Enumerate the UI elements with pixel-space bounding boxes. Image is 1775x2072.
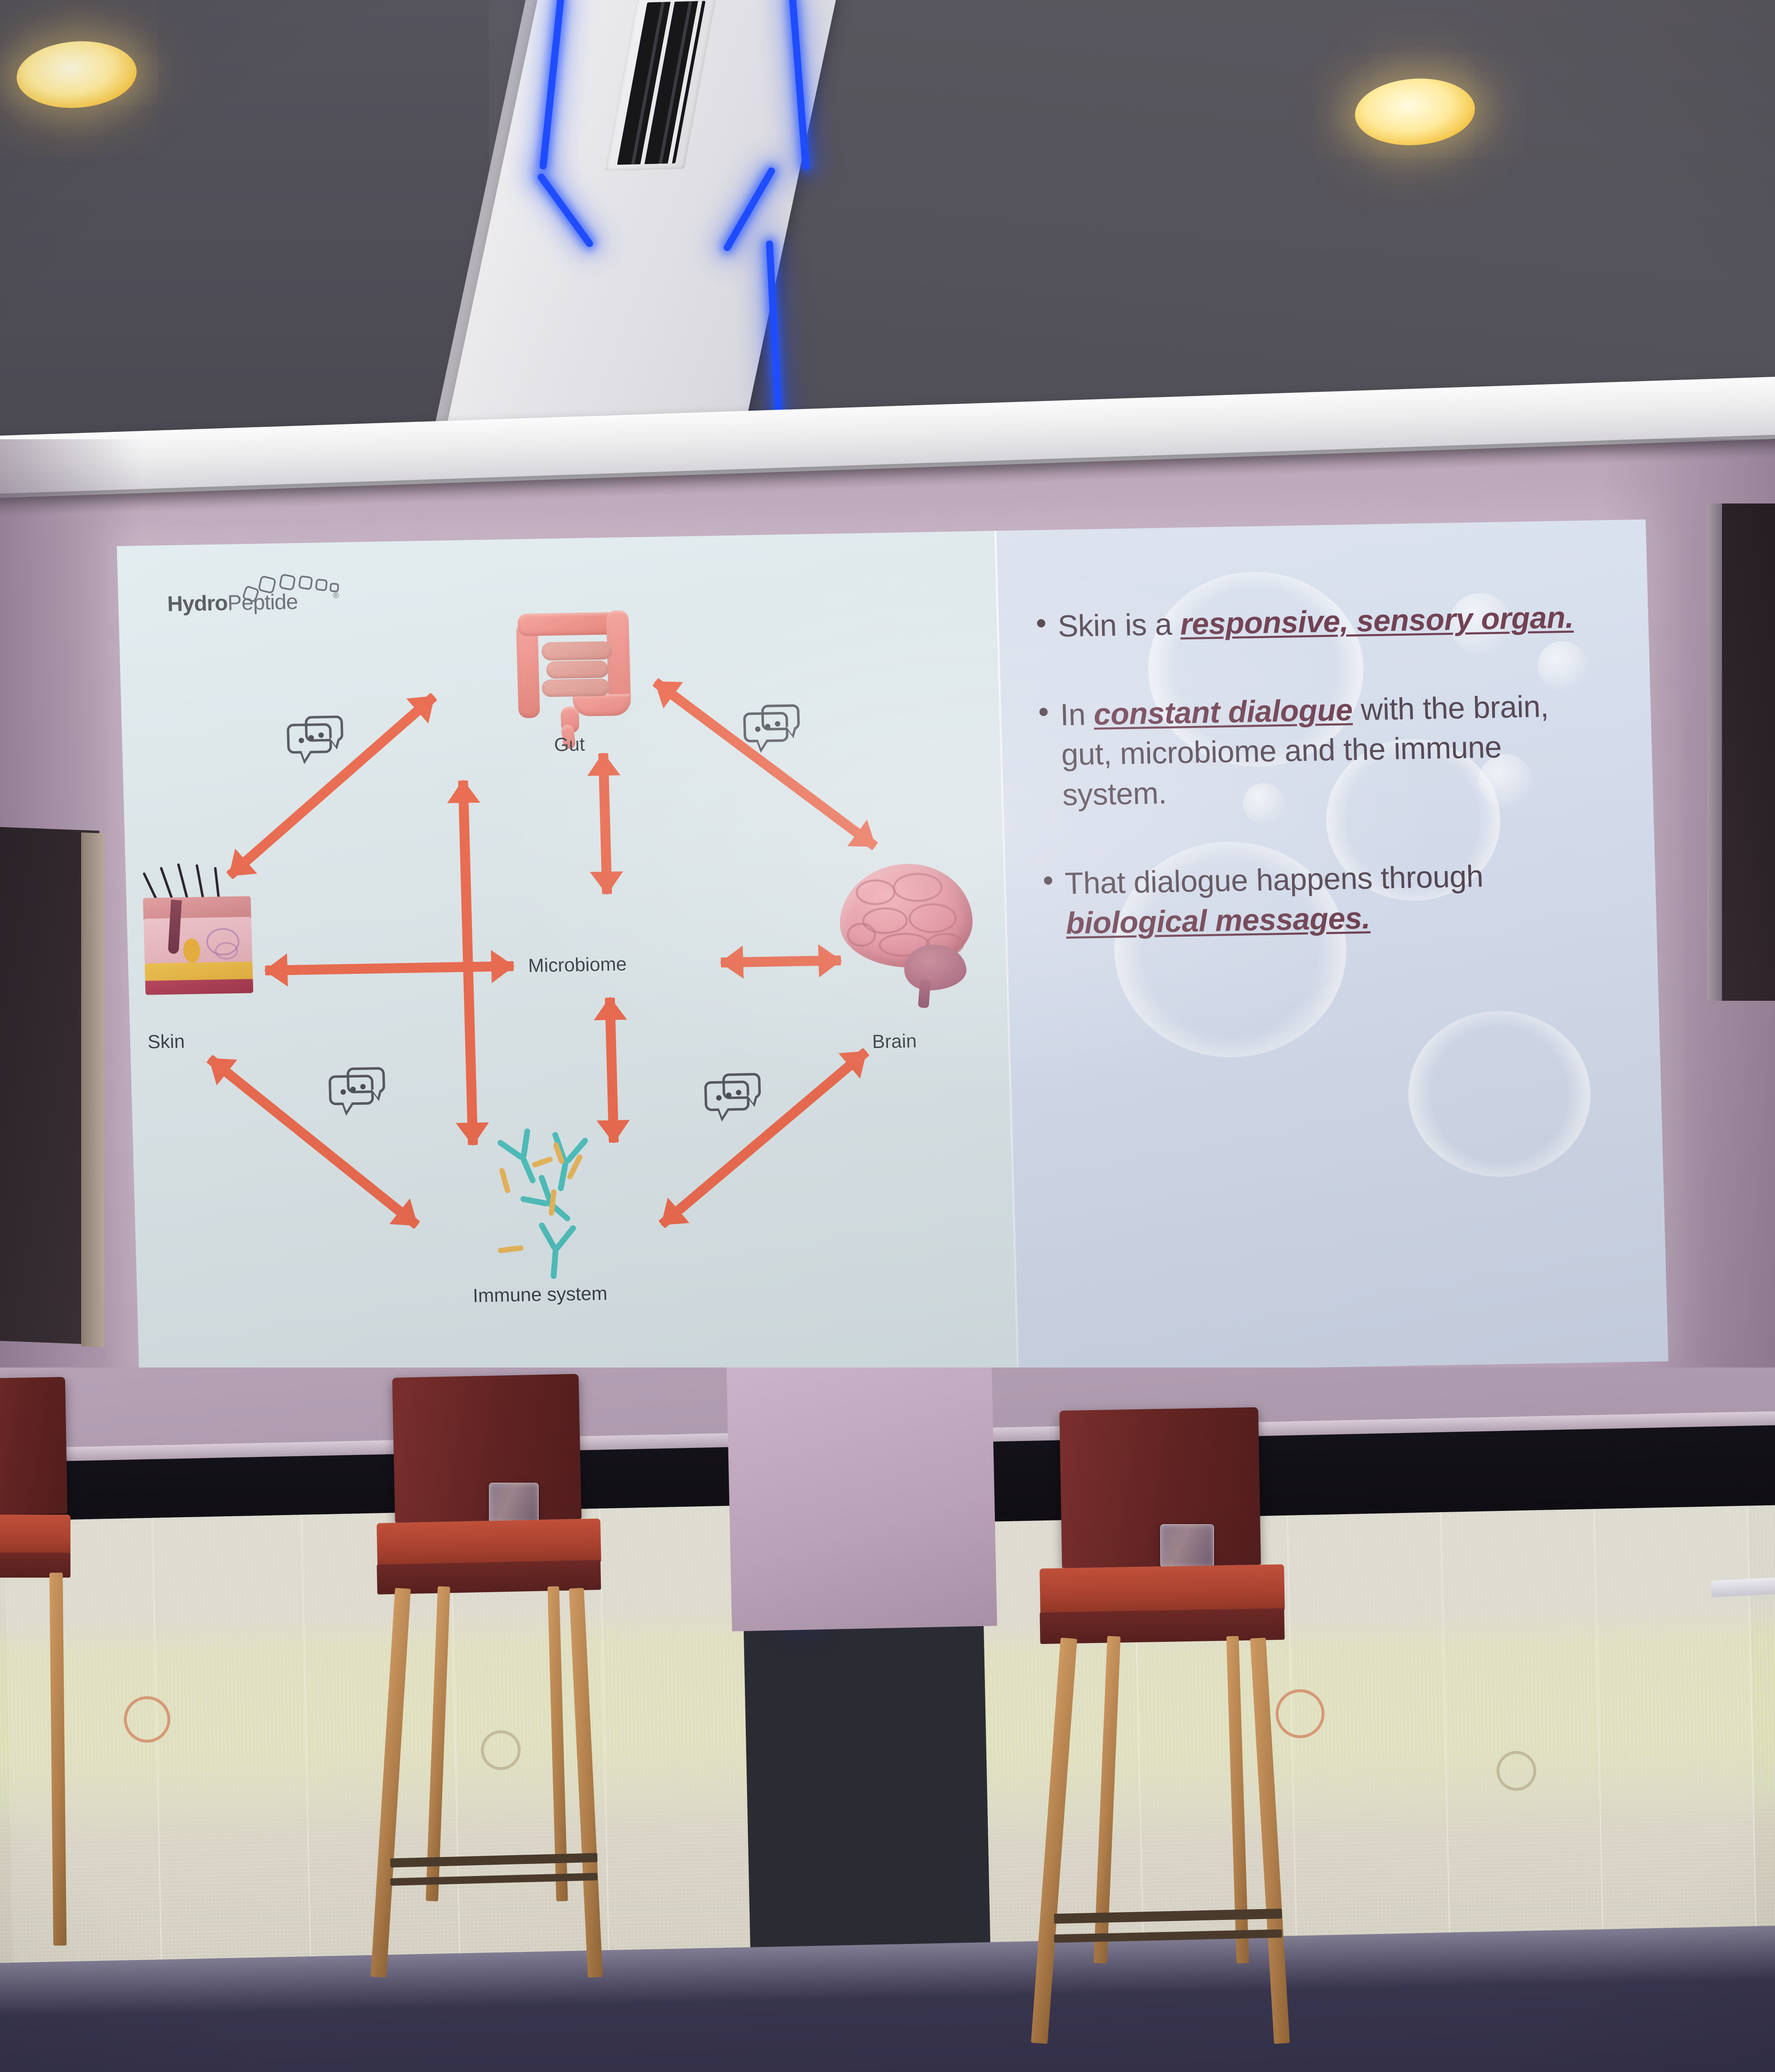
bullet-marker bbox=[1039, 708, 1048, 716]
bullet-marker bbox=[1037, 619, 1046, 627]
bullet-text: That dialogue happens through biological… bbox=[1064, 854, 1609, 943]
doorway-frame-right bbox=[1707, 503, 1722, 1001]
drinking-glass[interactable] bbox=[489, 1483, 539, 1523]
arrow-gut-microbiome bbox=[603, 753, 607, 894]
bullet-text: In constant dialogue with the brain, gut… bbox=[1060, 686, 1606, 815]
arrow-microbiome-immune bbox=[610, 997, 614, 1143]
doorway-frame-left bbox=[81, 833, 104, 1347]
brain-icon bbox=[838, 863, 987, 1006]
speech-bubble-icon bbox=[328, 1067, 392, 1117]
center-pillar bbox=[726, 1368, 997, 1631]
intestine-icon bbox=[508, 599, 648, 726]
logo-trademark: ® bbox=[333, 591, 339, 601]
bullet-item: In constant dialogue with the brain, gut… bbox=[1039, 686, 1606, 815]
speech-bubble-icon bbox=[286, 715, 350, 765]
node-label-gut: Gut bbox=[554, 733, 585, 755]
bar-stool-far-left[interactable] bbox=[0, 1378, 75, 1958]
screenshot-root: HydroPeptide ® bbox=[0, 0, 1775, 2072]
skin-axis-diagram: Gut Skin bbox=[118, 589, 1018, 1375]
bullet-item: That dialogue happens through biological… bbox=[1044, 854, 1609, 944]
doorway-recess-right bbox=[1719, 503, 1775, 1001]
lower-room bbox=[0, 1368, 1775, 2072]
antibody-icon bbox=[498, 1130, 642, 1269]
wall-device bbox=[1711, 1577, 1775, 1597]
bar-stool-left[interactable] bbox=[365, 1376, 621, 2014]
arrow-microbiome-brain bbox=[721, 961, 841, 963]
speech-bubble-icon bbox=[704, 1073, 767, 1123]
slide-bullet-list: Skin is a responsive, sensory organ. In … bbox=[1037, 597, 1611, 993]
node-label-immune: Immune system bbox=[472, 1282, 607, 1307]
node-label-skin: Skin bbox=[148, 1030, 185, 1053]
bullet-marker bbox=[1044, 876, 1052, 884]
node-label-brain: Brain bbox=[872, 1029, 917, 1053]
bullet-text: Skin is a responsive, sensory organ. bbox=[1057, 598, 1574, 646]
node-label-microbiome: Microbiome bbox=[528, 953, 627, 977]
bar-stool-right[interactable] bbox=[1028, 1409, 1301, 2072]
speech-bubble-icon bbox=[743, 704, 806, 754]
projected-slide: HydroPeptide ® bbox=[117, 520, 1669, 1388]
arrow-microbiome-skin bbox=[265, 966, 514, 970]
skin-cross-section-icon bbox=[138, 888, 266, 1022]
drinking-glass[interactable] bbox=[1160, 1524, 1214, 1567]
